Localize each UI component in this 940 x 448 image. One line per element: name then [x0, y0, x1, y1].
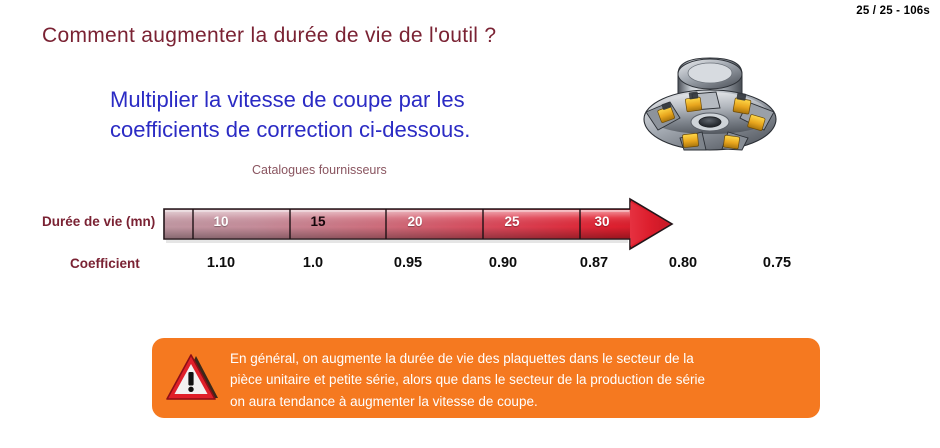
warning-note-text: En général, on augmente la durée de vie … — [230, 348, 810, 412]
subtitle-line-2: coefficients de correction ci-dessous. — [110, 115, 470, 145]
duration-value-2: 20 — [385, 214, 445, 229]
coefficient-value-3: 0.90 — [468, 255, 538, 271]
warning-note-line-3: on aura tendance à augmenter la vitesse … — [230, 391, 810, 412]
duration-value-1: 15 — [288, 214, 348, 229]
slide-counter: 25 / 25 - 106s — [856, 5, 930, 17]
warning-triangle-svg — [164, 352, 220, 404]
row-label-duration: Durée de vie (mn) — [42, 214, 155, 229]
face-milling-cutter-image — [636, 46, 786, 166]
duration-value-0: 10 — [191, 214, 251, 229]
duration-value-3: 25 — [482, 214, 542, 229]
warning-note-line-2: pièce unitaire et petite série, alors qu… — [230, 369, 810, 390]
duration-value-4: 30 — [572, 214, 632, 229]
page-title: Comment augmenter la durée de vie de l'o… — [42, 24, 496, 48]
slide-canvas: 25 / 25 - 106s Comment augmenter la duré… — [0, 0, 940, 448]
subtitle-line-1: Multiplier la vitesse de coupe par les — [110, 87, 465, 112]
coefficient-value-1: 1.0 — [278, 255, 348, 271]
coefficient-value-5: 0.80 — [648, 255, 718, 271]
coefficient-value-2: 0.95 — [373, 255, 443, 271]
milling-cutter-svg — [636, 46, 786, 166]
row-label-coefficient: Coefficient — [70, 256, 140, 271]
source-caption: Catalogues fournisseurs — [252, 163, 387, 177]
warning-note-line-1: En général, on augmente la durée de vie … — [230, 348, 810, 369]
coefficient-value-4: 0.87 — [559, 255, 629, 271]
coefficient-value-0: 1.10 — [186, 255, 256, 271]
coefficient-value-6: 0.75 — [742, 255, 812, 271]
subtitle: Multiplier la vitesse de coupe par les c… — [110, 85, 470, 145]
warning-note-box: En général, on augmente la durée de vie … — [152, 338, 820, 418]
warning-triangle-icon — [164, 352, 220, 404]
